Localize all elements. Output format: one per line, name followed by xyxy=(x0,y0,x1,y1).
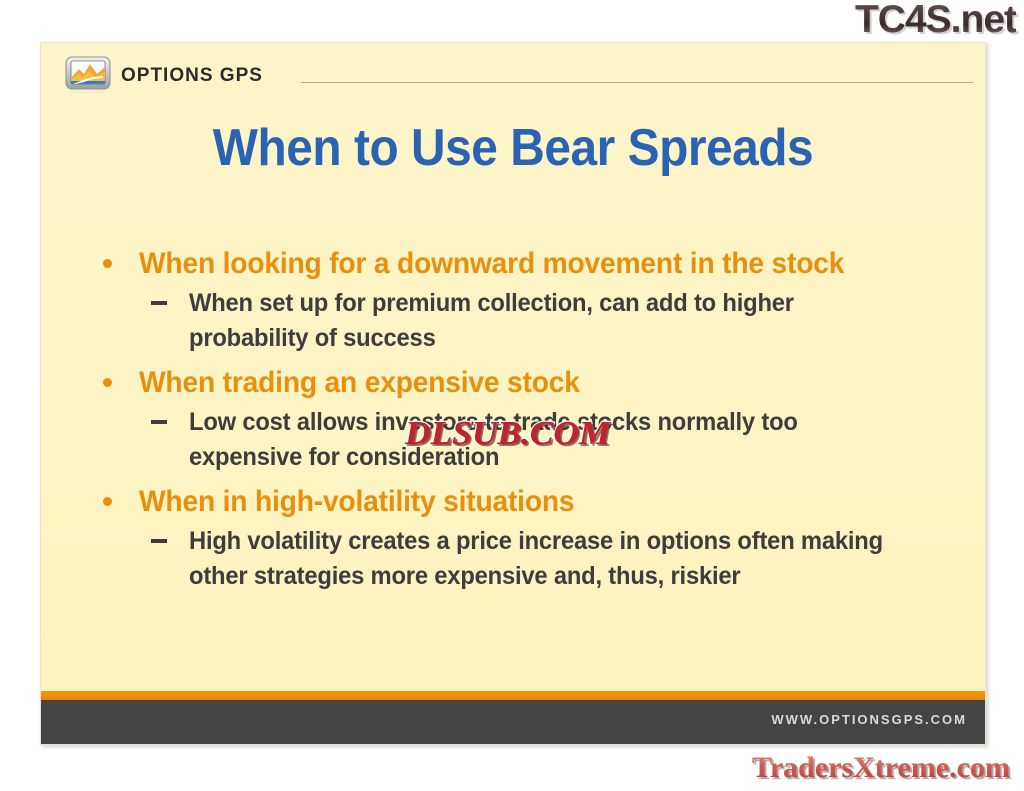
bullet-group-3: When in high-volatility situations High … xyxy=(93,481,945,594)
bullet-level2: High volatility creates a price increase… xyxy=(93,524,945,594)
footer-url-label: www.OptionsGPS.com xyxy=(771,712,967,727)
footer-accent-stripe xyxy=(41,691,985,700)
dlsub-watermark: DLSUB.COM xyxy=(405,416,610,452)
bullet-level1-label: When trading an expensive stock xyxy=(139,362,897,403)
bullet-level1: When in high-volatility situations xyxy=(93,481,945,522)
bullet-dash-icon xyxy=(151,301,167,305)
bullet-level1-label: When looking for a downward movement in … xyxy=(139,243,897,284)
options-gps-brand-label: Options GPS xyxy=(121,65,263,87)
presentation-slide: Options GPS When to Use Bear Spreads Whe… xyxy=(40,42,986,745)
bullet-level2: When set up for premium collection, can … xyxy=(93,286,945,356)
bullet-level1: When looking for a downward movement in … xyxy=(93,243,945,284)
bullet-dot-icon xyxy=(103,259,112,268)
tc4s-logo: TC4S.net xyxy=(855,0,1016,42)
page-title: When to Use Bear Spreads xyxy=(79,119,947,177)
bullet-dot-icon xyxy=(103,378,112,387)
bullet-level2-label: When set up for premium collection, can … xyxy=(189,286,907,356)
footer-bar: www.OptionsGPS.com xyxy=(41,700,985,744)
gps-device-icon xyxy=(63,55,115,95)
bullet-dash-icon xyxy=(151,420,167,424)
header-divider xyxy=(301,82,973,83)
bullet-level1: When trading an expensive stock xyxy=(93,362,945,403)
slide-screenshot: TC4S.net TC4S.net xyxy=(0,0,1024,791)
bullet-dot-icon xyxy=(103,497,112,506)
bullet-level1-label: When in high-volatility situations xyxy=(139,481,897,522)
bullet-dash-icon xyxy=(151,539,167,543)
bullet-group-1: When looking for a downward movement in … xyxy=(93,243,945,356)
bullet-level2-label: High volatility creates a price increase… xyxy=(189,524,907,594)
tradersxtreme-watermark: TradersXtreme.com xyxy=(752,751,1010,785)
slide-header: Options GPS xyxy=(41,43,985,101)
